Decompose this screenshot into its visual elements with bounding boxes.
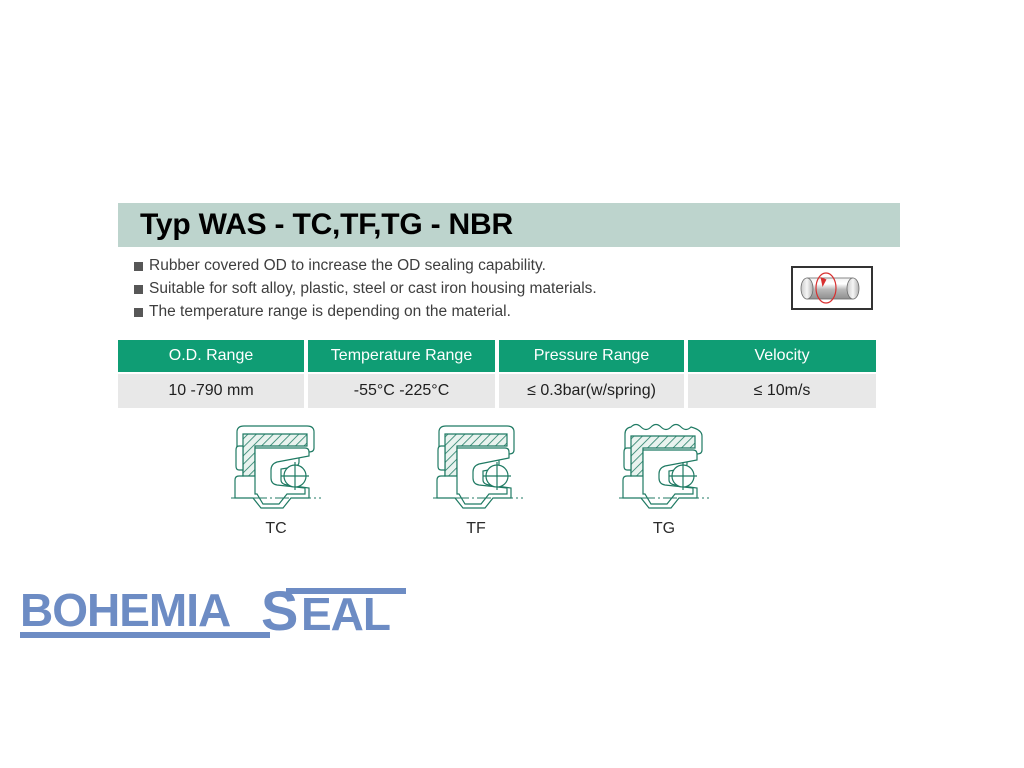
- bullet-text: Rubber covered OD to increase the OD sea…: [149, 256, 546, 276]
- seal-label-tg: TG: [594, 520, 734, 538]
- feature-bullet-list: Rubber covered OD to increase the OD sea…: [134, 256, 754, 325]
- seal-cross-section-tg-icon: [609, 418, 719, 518]
- cell-velocity: ≤ 10m/s: [688, 374, 876, 408]
- bullet-text: Suitable for soft alloy, plastic, steel …: [149, 279, 597, 299]
- seal-cross-section-tf-icon: [421, 418, 531, 518]
- list-item: Rubber covered OD to increase the OD sea…: [134, 256, 754, 276]
- seal-figure-tc: TC: [206, 418, 346, 538]
- seal-figure-tg: TG: [594, 418, 734, 538]
- cell-od-range: 10 -790 mm: [118, 374, 304, 408]
- column-header-temperature-range: Temperature Range: [308, 340, 495, 372]
- table-row: 10 -790 mm -55°C -225°C ≤ 0.3bar(w/sprin…: [118, 374, 876, 408]
- seal-label-tc: TC: [206, 520, 346, 538]
- bohemia-seal-logo: BOHEMIA S EAL: [18, 582, 418, 644]
- rotating-shaft-icon: [791, 266, 873, 310]
- bullet-text: The temperature range is depending on th…: [149, 302, 511, 322]
- column-header-velocity: Velocity: [688, 340, 876, 372]
- specification-table: O.D. Range Temperature Range Pressure Ra…: [118, 340, 876, 408]
- logo-overbar: [286, 588, 406, 594]
- seal-figure-tf: TF: [406, 418, 546, 538]
- title-banner: Typ WAS - TC,TF,TG - NBR: [118, 203, 900, 247]
- list-item: Suitable for soft alloy, plastic, steel …: [134, 279, 754, 299]
- seal-figure-group: TC TF: [196, 418, 756, 548]
- square-bullet-icon: [134, 308, 143, 317]
- cell-temperature-range: -55°C -225°C: [308, 374, 495, 408]
- cell-pressure-range: ≤ 0.3bar(w/spring): [499, 374, 684, 408]
- list-item: The temperature range is depending on th…: [134, 302, 754, 322]
- logo-text-eal: EAL: [301, 588, 390, 640]
- square-bullet-icon: [134, 285, 143, 294]
- column-header-od-range: O.D. Range: [118, 340, 304, 372]
- logo-text-bohemia: BOHEMIA: [20, 584, 230, 636]
- square-bullet-icon: [134, 262, 143, 271]
- column-header-pressure-range: Pressure Range: [499, 340, 684, 372]
- seal-label-tf: TF: [406, 520, 546, 538]
- page-title: Typ WAS - TC,TF,TG - NBR: [118, 208, 513, 242]
- seal-cross-section-tc-icon: [221, 418, 331, 518]
- table-header-row: O.D. Range Temperature Range Pressure Ra…: [118, 340, 876, 372]
- logo-underline: [20, 632, 270, 638]
